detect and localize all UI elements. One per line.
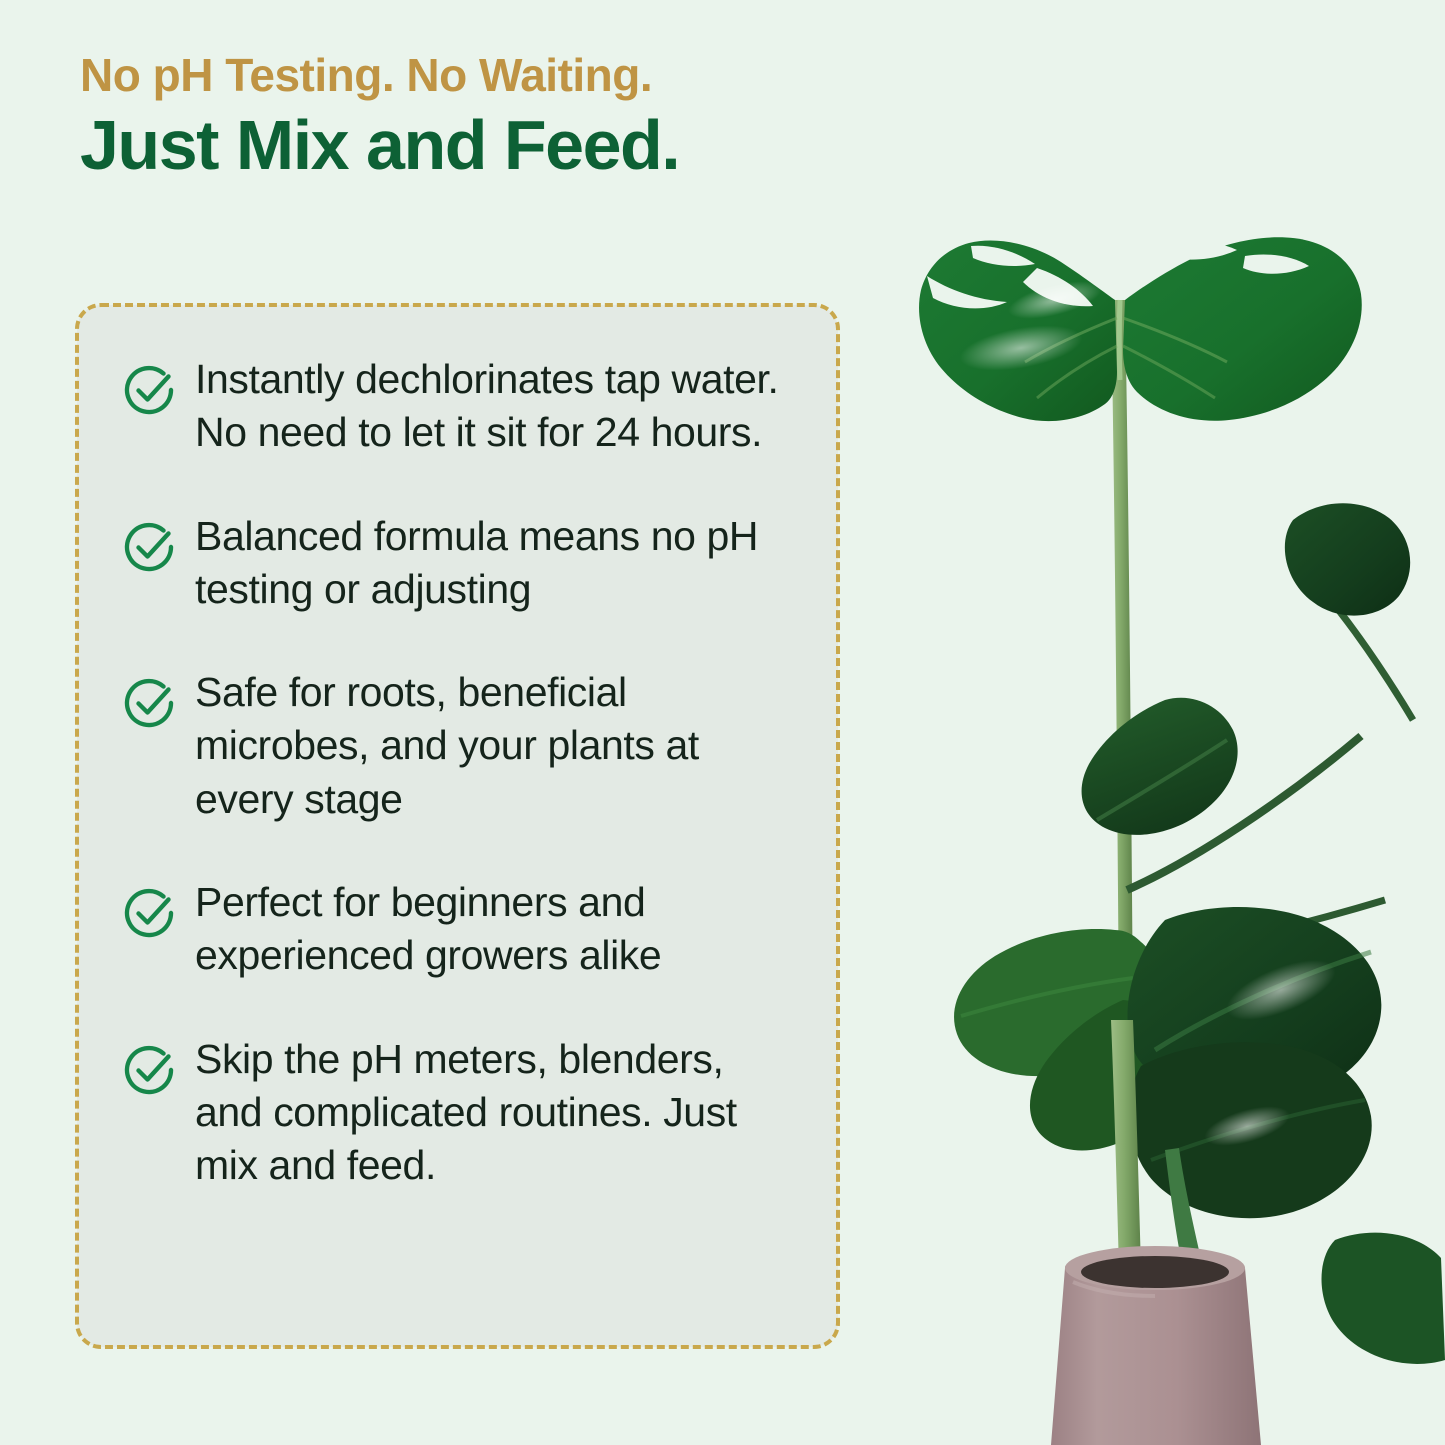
list-item: Skip the pH meters, blenders, and compli…: [119, 1033, 810, 1193]
main-headline: Just Mix and Feed.: [80, 106, 960, 186]
benefit-text: Skip the pH meters, blenders, and compli…: [195, 1033, 790, 1193]
benefits-list: Instantly dechlorinates tap water. No ne…: [119, 353, 810, 1193]
check-circle-icon: [119, 359, 181, 421]
check-circle-icon: [119, 1039, 181, 1101]
list-item: Instantly dechlorinates tap water. No ne…: [119, 353, 810, 460]
check-circle-icon: [119, 672, 181, 734]
list-item: Perfect for beginners and experienced gr…: [119, 876, 810, 983]
benefit-text: Instantly dechlorinates tap water. No ne…: [195, 353, 790, 460]
check-circle-icon: [119, 516, 181, 578]
monstera-plant-image: [865, 0, 1445, 1445]
check-circle-icon: [119, 882, 181, 944]
heading-block: No pH Testing. No Waiting. Just Mix and …: [80, 48, 960, 186]
benefits-card: Instantly dechlorinates tap water. No ne…: [77, 305, 838, 1347]
benefit-text: Safe for roots, beneficial microbes, and…: [195, 666, 790, 826]
eyebrow-heading: No pH Testing. No Waiting.: [80, 48, 960, 102]
benefit-text: Balanced formula means no pH testing or …: [195, 510, 790, 617]
benefit-text: Perfect for beginners and experienced gr…: [195, 876, 790, 983]
list-item: Balanced formula means no pH testing or …: [119, 510, 810, 617]
poster-canvas: No pH Testing. No Waiting. Just Mix and …: [0, 0, 1445, 1445]
list-item: Safe for roots, beneficial microbes, and…: [119, 666, 810, 826]
